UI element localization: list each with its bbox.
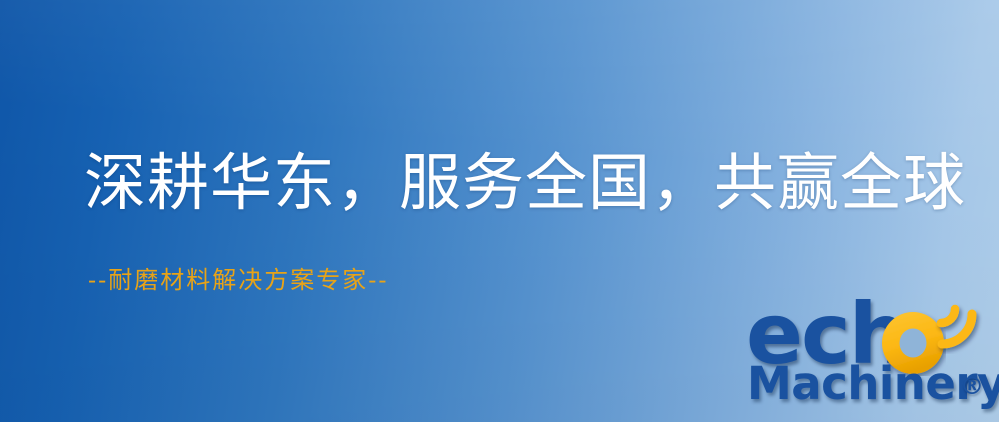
echo-wave-icon — [926, 292, 988, 354]
banner-headline: 深耕华东，服务全国，共赢全球 — [84, 152, 966, 214]
banner-subtitle: --耐磨材料解决方案专家-- — [88, 268, 388, 292]
echo-machinery-logo: ech — [744, 296, 999, 422]
promo-banner: 深耕华东，服务全国，共赢全球 --耐磨材料解决方案专家-- ech — [0, 0, 999, 422]
logo-registered-mark: ® — [960, 374, 984, 398]
